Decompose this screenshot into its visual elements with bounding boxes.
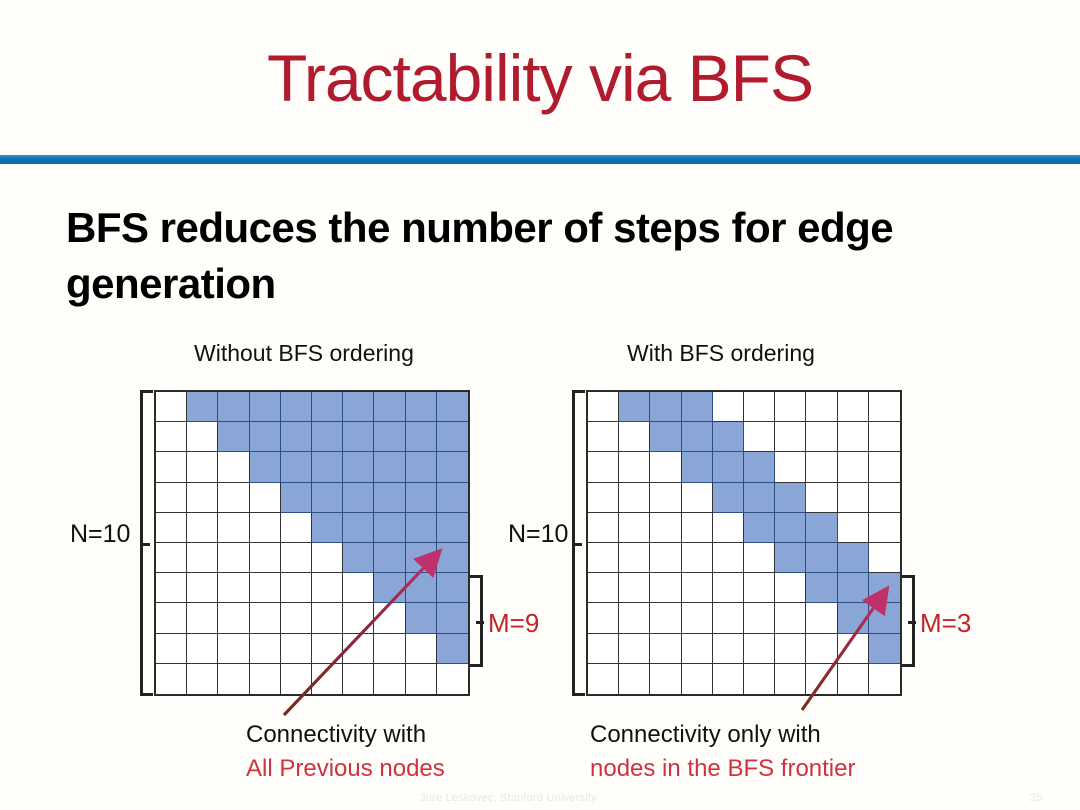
- panel-caption-with-bfs: With BFS ordering: [627, 340, 815, 367]
- matrix-cell: [650, 664, 681, 694]
- matrix-cell: [588, 483, 619, 513]
- matrix-cell: [187, 452, 218, 482]
- matrix-cell: [156, 543, 187, 573]
- matrix-cell: [806, 422, 837, 452]
- matrix-cell: [406, 573, 437, 603]
- matrix-cell: [312, 513, 343, 543]
- matrix-cell: [218, 452, 249, 482]
- matrix-cell: [775, 422, 806, 452]
- matrix-cell: [682, 452, 713, 482]
- matrix-cell: [806, 603, 837, 633]
- matrix-cell: [619, 452, 650, 482]
- matrix-cell: [437, 664, 468, 694]
- matrix-cell: [713, 603, 744, 633]
- matrix-cell: [374, 634, 405, 664]
- matrix-cell: [250, 483, 281, 513]
- matrix-cell: [806, 573, 837, 603]
- matrix-cell: [437, 392, 468, 422]
- matrix-cell: [343, 634, 374, 664]
- matrix-cell: [281, 664, 312, 694]
- matrix-cell: [312, 422, 343, 452]
- matrix-cell: [187, 422, 218, 452]
- matrix-cell: [588, 513, 619, 543]
- matrix-cell: [374, 513, 405, 543]
- matrix-cell: [218, 392, 249, 422]
- matrix-cell: [218, 543, 249, 573]
- matrix-cell: [869, 452, 900, 482]
- matrix-cell: [187, 543, 218, 573]
- matrix-cell: [187, 483, 218, 513]
- matrix-cell: [744, 603, 775, 633]
- matrix-cell: [406, 603, 437, 633]
- matrix-cell: [650, 513, 681, 543]
- matrix-cell: [218, 664, 249, 694]
- matrix-cell: [312, 603, 343, 633]
- matrix-cell: [775, 543, 806, 573]
- matrix-cell: [250, 634, 281, 664]
- matrix-cell: [374, 483, 405, 513]
- matrix-cell: [806, 513, 837, 543]
- matrix-cell: [187, 573, 218, 603]
- matrix-cell: [281, 513, 312, 543]
- matrix-cell: [250, 452, 281, 482]
- matrix-cell: [869, 573, 900, 603]
- matrix-cell: [187, 392, 218, 422]
- slide-canvas: Tractability via BFS BFS reduces the num…: [0, 0, 1080, 810]
- matrix-cell: [682, 634, 713, 664]
- matrix-cell: [744, 483, 775, 513]
- matrix-cell: [588, 634, 619, 664]
- n-bracket-left: [140, 390, 153, 696]
- matrix-cell: [806, 634, 837, 664]
- matrix-cell: [744, 664, 775, 694]
- matrix-cell: [312, 664, 343, 694]
- matrix-cell: [869, 634, 900, 664]
- matrix-cell: [187, 664, 218, 694]
- matrix-cell: [156, 603, 187, 633]
- title-divider-rule: [0, 155, 1080, 164]
- matrix-cell: [869, 664, 900, 694]
- matrix-cell: [682, 392, 713, 422]
- matrix-cell: [806, 543, 837, 573]
- bottom-caption-right-line2: nodes in the BFS frontier: [590, 752, 855, 786]
- matrix-cell: [281, 483, 312, 513]
- matrix-cell: [156, 483, 187, 513]
- matrix-cell: [406, 392, 437, 422]
- bottom-caption-left: Connectivity with All Previous nodes: [246, 718, 445, 786]
- matrix-cell: [187, 634, 218, 664]
- matrix-cell: [682, 483, 713, 513]
- matrix-cell: [588, 392, 619, 422]
- matrix-cell: [682, 422, 713, 452]
- matrix-cell: [650, 392, 681, 422]
- matrix-cell: [838, 634, 869, 664]
- matrix-cell: [250, 603, 281, 633]
- matrix-cell: [838, 543, 869, 573]
- matrix-cell: [343, 573, 374, 603]
- matrix-cell: [250, 543, 281, 573]
- panel-caption-without-bfs: Without BFS ordering: [194, 340, 414, 367]
- matrix-cell: [619, 573, 650, 603]
- n-label-left: N=10: [70, 520, 130, 549]
- matrix-cell: [218, 422, 249, 452]
- matrix-cell: [187, 603, 218, 633]
- matrix-cell: [619, 483, 650, 513]
- matrix-cell: [682, 543, 713, 573]
- matrix-cell: [312, 392, 343, 422]
- matrix-cell: [437, 543, 468, 573]
- matrix-cell: [713, 483, 744, 513]
- matrix-cell: [869, 392, 900, 422]
- matrix-cell: [588, 573, 619, 603]
- matrix-cell: [312, 543, 343, 573]
- footer-attribution: Jure Leskovec, Stanford University: [420, 792, 597, 804]
- matrix-cell: [838, 513, 869, 543]
- matrix-cell: [744, 634, 775, 664]
- matrix-cell: [156, 573, 187, 603]
- matrix-cell: [406, 513, 437, 543]
- matrix-cell: [156, 392, 187, 422]
- m-bracket-tick-left: [476, 621, 484, 624]
- matrix-cell: [374, 573, 405, 603]
- matrix-cell: [806, 452, 837, 482]
- matrix-cell: [619, 664, 650, 694]
- matrix-cell: [588, 543, 619, 573]
- matrix-cell: [838, 573, 869, 603]
- matrix-cell: [806, 392, 837, 422]
- subheading: BFS reduces the number of steps for edge…: [66, 200, 1006, 313]
- m-bracket-left: [470, 575, 483, 667]
- matrix-cell: [806, 483, 837, 513]
- matrix-cell: [218, 634, 249, 664]
- matrix-cell: [437, 634, 468, 664]
- matrix-cell: [682, 603, 713, 633]
- matrix-cell: [437, 573, 468, 603]
- matrix-cell: [374, 664, 405, 694]
- matrix-cell: [838, 664, 869, 694]
- matrix-cell: [406, 634, 437, 664]
- matrix-cell: [250, 573, 281, 603]
- bottom-caption-right-line1: Connectivity only with: [590, 718, 855, 752]
- matrix-cell: [838, 603, 869, 633]
- matrix-cell: [343, 603, 374, 633]
- matrix-cell: [218, 513, 249, 543]
- matrix-cell: [838, 392, 869, 422]
- matrix-cell: [775, 603, 806, 633]
- m-label-right: M=3: [920, 608, 971, 639]
- matrix-cell: [312, 634, 343, 664]
- matrix-cell: [374, 392, 405, 422]
- n-bracket-tick-right: [574, 543, 582, 546]
- m-bracket-tick-right: [908, 621, 916, 624]
- matrix-cell: [744, 422, 775, 452]
- matrix-cell: [156, 513, 187, 543]
- matrix-cell: [374, 452, 405, 482]
- matrix-with-bfs: [586, 390, 902, 696]
- matrix-cell: [281, 573, 312, 603]
- matrix-cell: [406, 452, 437, 482]
- n-bracket-right: [572, 390, 585, 696]
- matrix-cell: [713, 392, 744, 422]
- matrix-cell: [406, 664, 437, 694]
- matrix-cell: [650, 452, 681, 482]
- matrix-cell: [406, 422, 437, 452]
- matrix-cell: [619, 513, 650, 543]
- matrix-cell: [744, 452, 775, 482]
- matrix-cell: [250, 664, 281, 694]
- matrix-cell: [156, 422, 187, 452]
- page-number: 25: [1030, 792, 1042, 804]
- matrix-cell: [437, 603, 468, 633]
- matrix-cell: [713, 513, 744, 543]
- matrix-cell: [437, 483, 468, 513]
- matrix-cell: [744, 573, 775, 603]
- matrix-cell: [744, 543, 775, 573]
- matrix-cell: [869, 422, 900, 452]
- matrix-cell: [343, 392, 374, 422]
- matrix-cell: [838, 452, 869, 482]
- n-bracket-tick-left: [142, 543, 150, 546]
- matrix-cell: [650, 483, 681, 513]
- matrix-cell: [838, 422, 869, 452]
- matrix-cell: [343, 483, 374, 513]
- matrix-cell: [869, 603, 900, 633]
- matrix-cell: [588, 664, 619, 694]
- matrix-cell: [218, 603, 249, 633]
- matrix-cell: [281, 543, 312, 573]
- matrix-cell: [775, 392, 806, 422]
- matrix-cell: [869, 483, 900, 513]
- matrix-cell: [713, 573, 744, 603]
- matrix-cell: [775, 664, 806, 694]
- matrix-cell: [312, 483, 343, 513]
- matrix-cell: [281, 392, 312, 422]
- matrix-cell: [775, 634, 806, 664]
- m-label-left: M=9: [488, 608, 539, 639]
- matrix-cell: [775, 452, 806, 482]
- matrix-cell: [869, 513, 900, 543]
- matrix-cell: [343, 664, 374, 694]
- bottom-caption-right: Connectivity only with nodes in the BFS …: [590, 718, 855, 786]
- matrix-cell: [250, 392, 281, 422]
- matrix-cell: [682, 573, 713, 603]
- matrix-cell: [869, 543, 900, 573]
- matrix-cell: [312, 573, 343, 603]
- bottom-caption-left-line1: Connectivity with: [246, 718, 445, 752]
- matrix-cell: [250, 513, 281, 543]
- matrix-cell: [343, 543, 374, 573]
- matrix-cell: [406, 543, 437, 573]
- matrix-cell: [218, 573, 249, 603]
- matrix-cell: [437, 513, 468, 543]
- matrix-cell: [156, 452, 187, 482]
- matrix-cell: [619, 422, 650, 452]
- matrix-cell: [619, 543, 650, 573]
- matrix-cell: [312, 452, 343, 482]
- matrix-cell: [281, 603, 312, 633]
- matrix-cell: [281, 422, 312, 452]
- matrix-cell: [250, 422, 281, 452]
- matrix-cell: [374, 543, 405, 573]
- matrix-cell: [682, 513, 713, 543]
- matrix-without-bfs: [154, 390, 470, 696]
- matrix-cell: [775, 513, 806, 543]
- matrix-cell: [374, 422, 405, 452]
- matrix-cell: [588, 452, 619, 482]
- matrix-cell: [650, 603, 681, 633]
- matrix-cell: [650, 422, 681, 452]
- matrix-cell: [713, 422, 744, 452]
- matrix-cell: [682, 664, 713, 694]
- matrix-cell: [744, 513, 775, 543]
- matrix-cell: [406, 483, 437, 513]
- matrix-cell: [156, 664, 187, 694]
- matrix-cell: [619, 634, 650, 664]
- matrix-cell: [218, 483, 249, 513]
- matrix-cell: [650, 634, 681, 664]
- matrix-cell: [343, 452, 374, 482]
- matrix-cell: [713, 634, 744, 664]
- matrix-cell: [437, 422, 468, 452]
- matrix-cell: [806, 664, 837, 694]
- matrix-cell: [650, 543, 681, 573]
- matrix-cell: [343, 513, 374, 543]
- matrix-cell: [588, 422, 619, 452]
- matrix-cell: [588, 603, 619, 633]
- page-title: Tractability via BFS: [0, 44, 1080, 113]
- n-label-right: N=10: [508, 520, 568, 549]
- matrix-cell: [343, 422, 374, 452]
- matrix-cell: [775, 483, 806, 513]
- matrix-cell: [156, 634, 187, 664]
- matrix-cell: [650, 573, 681, 603]
- matrix-cell: [437, 452, 468, 482]
- matrix-cell: [713, 664, 744, 694]
- matrix-cell: [374, 603, 405, 633]
- matrix-cell: [619, 603, 650, 633]
- matrix-cell: [713, 452, 744, 482]
- bottom-caption-left-line2: All Previous nodes: [246, 752, 445, 786]
- m-bracket-right: [902, 575, 915, 667]
- matrix-cell: [281, 452, 312, 482]
- matrix-cell: [838, 483, 869, 513]
- matrix-cell: [713, 543, 744, 573]
- matrix-cell: [775, 573, 806, 603]
- matrix-cell: [744, 392, 775, 422]
- matrix-cell: [619, 392, 650, 422]
- matrix-cell: [281, 634, 312, 664]
- matrix-cell: [187, 513, 218, 543]
